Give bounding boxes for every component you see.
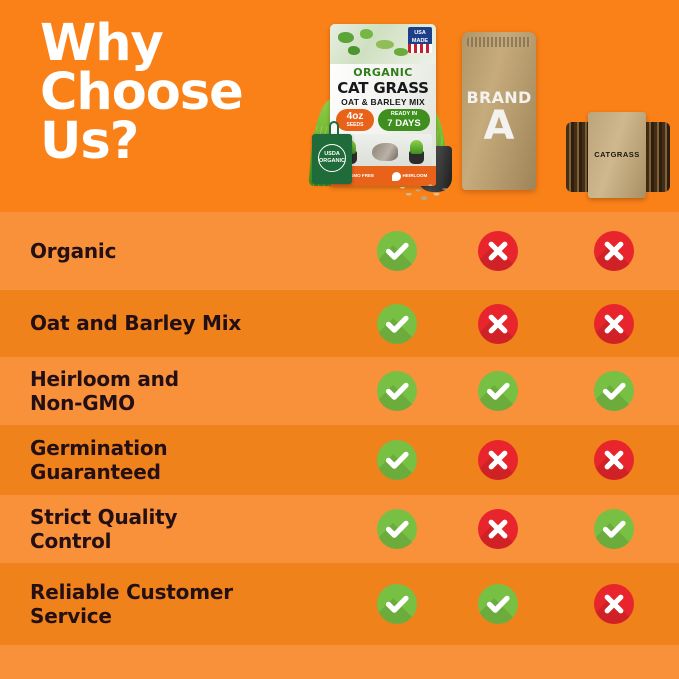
check-icon — [478, 584, 518, 624]
cross-circle-icon — [594, 584, 634, 624]
check-icon — [377, 304, 417, 344]
brand-a-letter-label: A — [462, 106, 536, 146]
check-circle-icon — [377, 304, 417, 344]
feature-label: Strict QualityControl — [0, 505, 350, 554]
usda-organic-seal-icon: USDA ORGANIC — [318, 144, 346, 172]
usa-made-badge-icon: USA MADE — [408, 27, 432, 53]
cross-circle-icon — [478, 231, 518, 271]
cross-icon — [478, 304, 518, 344]
mark-cells — [350, 495, 679, 563]
leaf-decor-icon — [376, 40, 394, 49]
mark-cells — [350, 563, 679, 645]
cross-circle-icon — [594, 440, 634, 480]
catgrass-packet-label: CATGRASS — [588, 150, 646, 159]
badge-size: 4oz SEEDS — [336, 109, 374, 131]
footer-spacer — [0, 645, 679, 679]
cross-icon — [594, 304, 634, 344]
badge-ready-in-days: READY IN 7 DAYS — [378, 109, 430, 131]
check-icon — [377, 509, 417, 549]
usa-badge-text: USA MADE — [408, 27, 432, 44]
mark-cells — [350, 212, 679, 290]
check-circle-icon — [377, 440, 417, 480]
leaf-decor-icon — [394, 48, 408, 56]
seed-pile-icon — [390, 176, 452, 202]
potted-grass-icon — [409, 151, 424, 164]
leaf-decor-icon — [360, 29, 373, 39]
check-circle-icon — [377, 509, 417, 549]
cross-circle-icon — [594, 231, 634, 271]
mark-cells — [350, 290, 679, 357]
table-row: GerminationGuaranteed — [0, 425, 679, 495]
check-icon — [594, 371, 634, 411]
headline-line-3: Us? — [40, 118, 340, 167]
check-circle-icon — [478, 584, 518, 624]
cross-icon — [478, 231, 518, 271]
table-row: Strict QualityControl — [0, 495, 679, 563]
feature-label: GerminationGuaranteed — [0, 436, 350, 485]
comparison-infographic: Why Choose Us? USA MADE — [0, 0, 679, 679]
product-label-oat-barley-mix: OAT & BARLEY MIX — [330, 97, 436, 107]
product-label-organic: ORGANIC — [330, 66, 436, 79]
feature-label: Oat and Barley Mix — [0, 311, 350, 335]
feature-label: Reliable CustomerService — [0, 580, 350, 629]
flag-stripes-icon — [408, 44, 432, 53]
cross-icon — [478, 509, 518, 549]
page-title: Why Choose Us? — [40, 20, 340, 167]
mark-cells — [350, 357, 679, 425]
product-feature-badges: 4oz SEEDS READY IN 7 DAYS — [336, 109, 430, 131]
feature-label: Organic — [0, 239, 350, 263]
check-icon — [377, 440, 417, 480]
mark-cells — [350, 425, 679, 495]
check-circle-icon — [377, 371, 417, 411]
cross-circle-icon — [594, 304, 634, 344]
check-circle-icon — [377, 584, 417, 624]
header-banner: Why Choose Us? USA MADE — [0, 0, 679, 212]
check-circle-icon — [594, 371, 634, 411]
comparison-table: OrganicOat and Barley MixHeirloom andNon… — [0, 212, 679, 645]
catgrass-seed-packet: CATGRASS — [588, 112, 646, 198]
cross-circle-icon — [478, 509, 518, 549]
table-row: Heirloom andNon-GMO — [0, 357, 679, 425]
check-icon — [377, 371, 417, 411]
cat-photo-icon — [372, 143, 398, 161]
check-icon — [377, 231, 417, 271]
check-icon — [478, 371, 518, 411]
cross-icon — [594, 584, 634, 624]
table-row: Oat and Barley Mix — [0, 290, 679, 357]
headline-line-1: Why — [40, 20, 340, 69]
cross-icon — [594, 231, 634, 271]
leaf-decor-icon — [338, 32, 354, 43]
pouch-seal-icon — [467, 37, 531, 47]
leaf-decor-icon — [348, 46, 360, 55]
product-image-catgrass-packet: CATGRASS — [566, 112, 670, 198]
cross-icon — [594, 440, 634, 480]
feature-label: Heirloom andNon-GMO — [0, 367, 350, 416]
usda-organic-hangtag: USDA ORGANIC — [312, 134, 352, 184]
cross-icon — [478, 440, 518, 480]
check-circle-icon — [594, 509, 634, 549]
product-label-cat-grass: CAT GRASS — [330, 79, 436, 97]
product-image-brand-a: BRAND A — [462, 32, 536, 190]
check-icon — [594, 509, 634, 549]
headline-line-2: Choose — [40, 69, 340, 118]
table-row: Reliable CustomerService — [0, 563, 679, 645]
cross-circle-icon — [478, 304, 518, 344]
cross-circle-icon — [478, 440, 518, 480]
check-circle-icon — [478, 371, 518, 411]
table-row: Organic — [0, 212, 679, 290]
check-circle-icon — [377, 231, 417, 271]
check-icon — [377, 584, 417, 624]
product-image-our-cat-grass: USA MADE ORGANIC CAT GRASS OAT & BARLEY … — [312, 22, 452, 208]
